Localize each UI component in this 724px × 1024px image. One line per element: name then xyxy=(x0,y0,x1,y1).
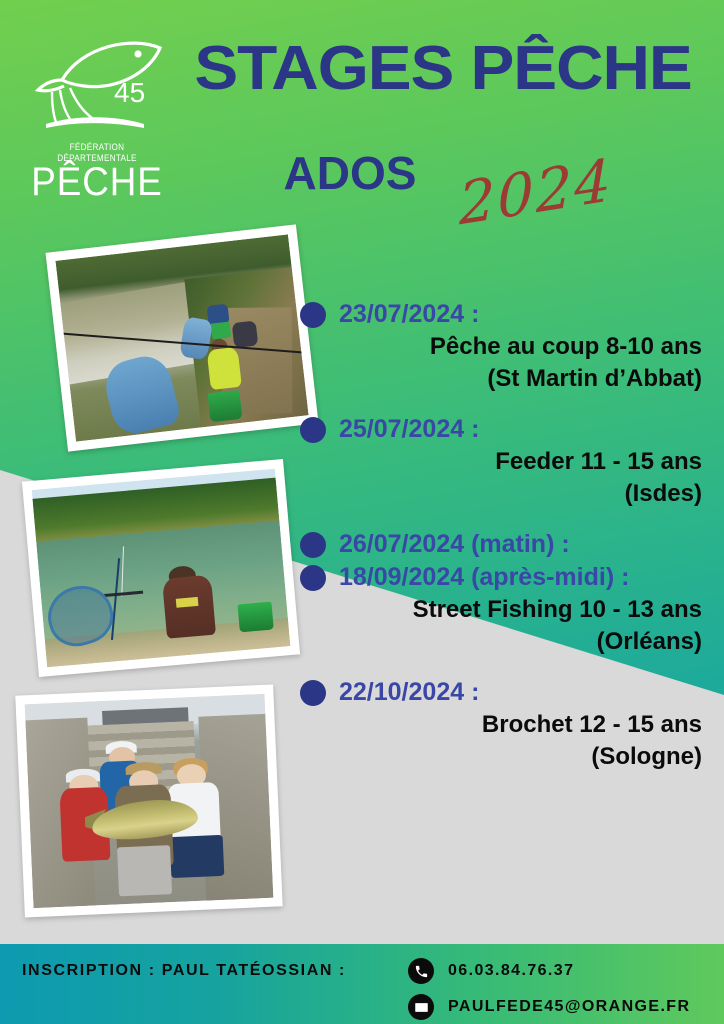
photo-boy-fishing-lake xyxy=(22,459,300,677)
event-date: 23/07/2024 : xyxy=(339,300,479,329)
bullet-dot-icon xyxy=(300,565,326,591)
bullet-dot-icon xyxy=(300,680,326,706)
event-activity: Street Fishing 10 - 13 ans xyxy=(300,596,710,624)
page-title: STAGES PÊCHE xyxy=(162,36,724,101)
event-list: 23/07/2024 : Pêche au coup 8-10 ans (St … xyxy=(300,300,710,793)
envelope-icon xyxy=(408,994,434,1020)
event-date-row: 22/10/2024 : xyxy=(300,678,710,707)
phone-number: 06.03.84.76.37 xyxy=(448,962,574,980)
bullet-dot-icon xyxy=(300,532,326,558)
bullet-dot-icon xyxy=(300,302,326,328)
event-date-row: 26/07/2024 (matin) : xyxy=(300,530,710,559)
event-location: (Sologne) xyxy=(300,743,710,771)
event-date-row: 23/07/2024 : xyxy=(300,300,710,329)
email-address: PAULFEDE45@ORANGE.FR xyxy=(448,998,690,1016)
event-activity: Pêche au coup 8-10 ans xyxy=(300,333,710,361)
email-contact-row[interactable]: PAULFEDE45@ORANGE.FR xyxy=(408,994,690,1020)
inscription-label: INSCRIPTION : PAUL TATÉOSSIAN : xyxy=(22,962,346,980)
page-subtitle: ADOS xyxy=(200,146,500,200)
event-item: 26/07/2024 (matin) : 18/09/2024 (après-m… xyxy=(300,530,710,656)
event-item: 25/07/2024 : Feeder 11 - 15 ans (Isdes) xyxy=(300,415,710,508)
event-date: 26/07/2024 (matin) : xyxy=(339,530,570,559)
bullet-dot-icon xyxy=(300,417,326,443)
event-location: (Orléans) xyxy=(300,628,710,656)
svg-text:45: 45 xyxy=(114,77,145,108)
event-location: (Isdes) xyxy=(300,480,710,508)
event-date: 18/09/2024 (après-midi) : xyxy=(339,563,629,592)
event-item: 22/10/2024 : Brochet 12 - 15 ans (Sologn… xyxy=(300,678,710,771)
event-location: (St Martin d’Abbat) xyxy=(300,365,710,393)
phone-icon xyxy=(408,958,434,984)
contact-footer-content: INSCRIPTION : PAUL TATÉOSSIAN : 06.03.84… xyxy=(0,944,724,1024)
event-activity: Feeder 11 - 15 ans xyxy=(300,448,710,476)
poster-root: 45 FÉDÉRATION DÉPARTEMENTALE PÊCHE STAGE… xyxy=(0,0,724,1024)
event-item: 23/07/2024 : Pêche au coup 8-10 ans (St … xyxy=(300,300,710,393)
photo-group-with-carp xyxy=(15,684,282,917)
photo-kids-fishing-pond xyxy=(45,224,318,451)
federation-logo: 45 FÉDÉRATION DÉPARTEMENTALE PÊCHE xyxy=(22,28,172,198)
event-date-row-secondary: 18/09/2024 (après-midi) : xyxy=(300,563,710,592)
event-date: 25/07/2024 : xyxy=(339,415,479,444)
logo-name: PÊCHE xyxy=(28,162,166,202)
fish-logo-icon: 45 xyxy=(22,28,172,146)
phone-contact-row[interactable]: 06.03.84.76.37 xyxy=(408,958,574,984)
event-date: 22/10/2024 : xyxy=(339,678,479,707)
event-activity: Brochet 12 - 15 ans xyxy=(300,711,710,739)
event-date-row: 25/07/2024 : xyxy=(300,415,710,444)
